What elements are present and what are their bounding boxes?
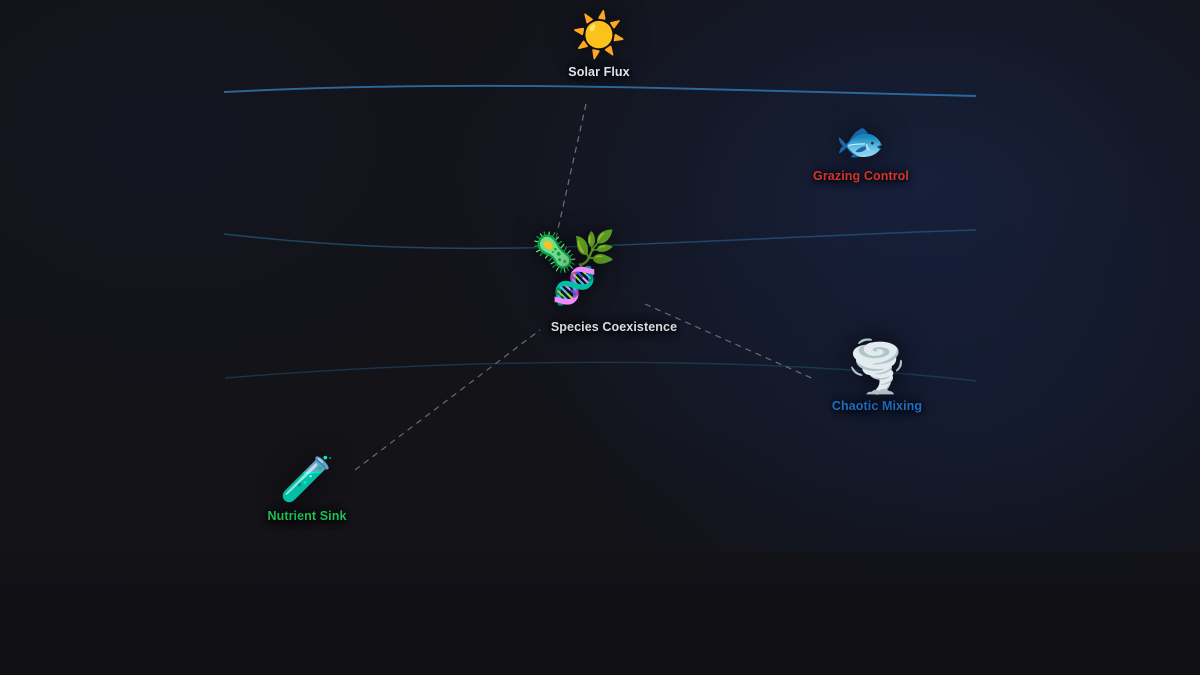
footer-bar: Vectree Paradox of the plankton vectree.… [0, 552, 1200, 675]
dna-icon: 🧬 [552, 268, 597, 304]
test-tube-icon: 🧪 [280, 458, 335, 502]
tornado-icon: 🌪️ [846, 342, 908, 392]
link-nutrient-to-species [355, 330, 540, 470]
node-grazing-control[interactable]: 🐟 Grazing Control [813, 122, 909, 183]
node-label-grazing-control: Grazing Control [813, 169, 909, 183]
species-icon-cluster: 🦠 🌿 🧬 [499, 228, 729, 320]
diagram-canvas: ☀️ Solar Flux 🐟 Grazing Control 🦠 🌿 🧬 Sp… [0, 0, 1200, 675]
node-label-nutrient-sink: Nutrient Sink [267, 509, 346, 523]
node-label-solar-flux: Solar Flux [568, 65, 629, 79]
node-species-coexistence[interactable]: 🦠 🌿 🧬 Species Coexistence [499, 228, 729, 334]
node-chaotic-mixing[interactable]: 🌪️ Chaotic Mixing [832, 342, 922, 413]
wave-top-line [224, 86, 976, 96]
node-label-species-coexistence: Species Coexistence [551, 320, 677, 334]
node-nutrient-sink[interactable]: 🧪 Nutrient Sink [267, 458, 346, 523]
sun-icon: ☀️ [572, 14, 627, 58]
fish-icon: 🐟 [836, 122, 886, 162]
node-label-chaotic-mixing: Chaotic Mixing [832, 399, 922, 413]
herb-icon: 🌿 [573, 232, 615, 266]
link-solar-to-species [556, 104, 586, 238]
node-solar-flux[interactable]: ☀️ Solar Flux [568, 14, 629, 79]
background-glow-left [0, 0, 520, 400]
